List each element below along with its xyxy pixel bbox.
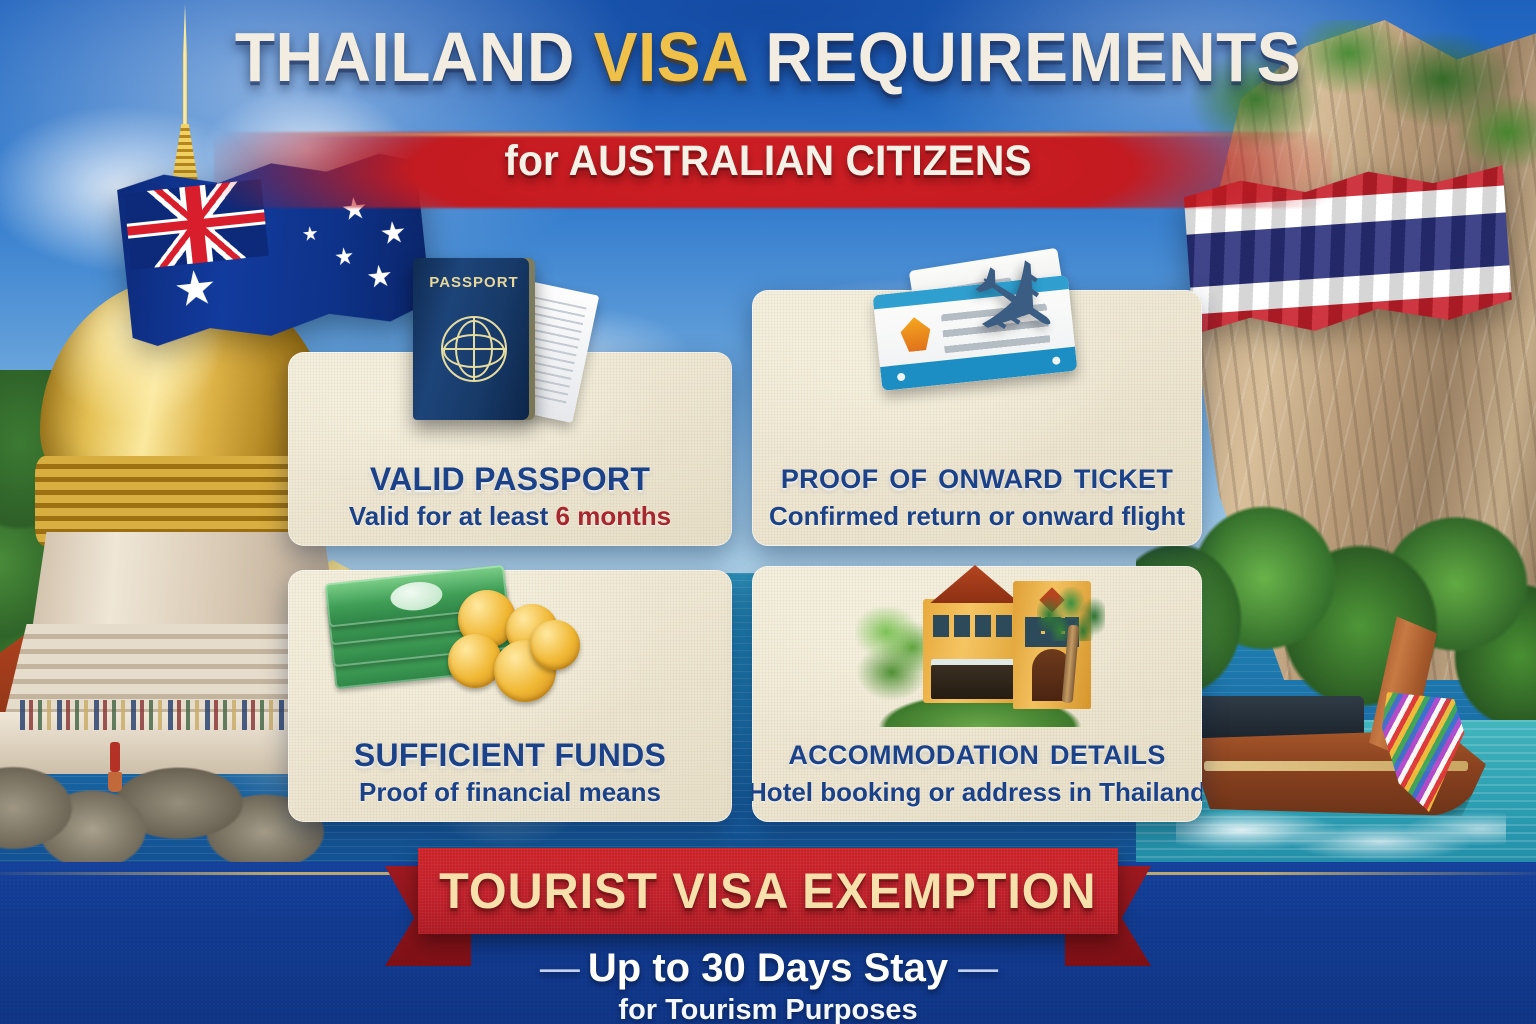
stay-duration-line: —Up to 30 Days Stay— xyxy=(0,946,1536,991)
stay-duration-text: Up to 30 Days Stay xyxy=(588,946,948,990)
title-part-1: THAILAND xyxy=(235,18,594,96)
card-title: Proof of Onward Ticket xyxy=(781,457,1173,497)
card-subtitle-highlight: 6 months xyxy=(556,501,672,531)
page-title: THAILAND VISA REQUIREMENTS xyxy=(46,22,1490,92)
card-subtitle: Confirmed return or onward flight xyxy=(769,501,1185,532)
card-title: VALID PASSPORT xyxy=(370,463,650,497)
card-accommodation-details[interactable]: Accommodation Details Hotel booking or a… xyxy=(752,566,1202,822)
card-title: SUFFICIENT FUNDS xyxy=(354,739,666,773)
card-subtitle-text: Valid for at least xyxy=(349,501,556,531)
purpose-text: for Tourism Purposes xyxy=(0,994,1536,1024)
card-valid-passport[interactable]: VALID PASSPORT Valid for at least 6 mont… xyxy=(288,352,732,546)
card-title: Accommodation Details xyxy=(788,733,1165,773)
subtitle-main: AUSTRALIAN CITIZENS xyxy=(569,137,1032,185)
card-subtitle: Proof of financial means xyxy=(359,777,661,808)
card-subtitle: Valid for at least 6 months xyxy=(349,501,671,532)
shrine-lamp xyxy=(108,742,122,794)
longtail-boat xyxy=(1176,600,1516,870)
exemption-banner: TOURIST VISA EXEMPTION —Up to 30 Days St… xyxy=(0,834,1536,1024)
ribbon-label: TOURIST VISA EXEMPTION xyxy=(439,862,1096,920)
requirements-card-grid: VALID PASSPORT Valid for at least 6 mont… xyxy=(288,352,1202,822)
dash-left: — xyxy=(530,946,588,990)
card-proof-of-onward-ticket[interactable]: Proof of Onward Ticket Confirmed return … xyxy=(752,290,1202,546)
card-sufficient-funds[interactable]: SUFFICIENT FUNDS Proof of financial mean… xyxy=(288,570,732,822)
page-subtitle: for AUSTRALIAN CITIZENS xyxy=(38,137,1497,186)
card-subtitle: Hotel booking or address in Thailand xyxy=(752,777,1202,808)
title-part-2: REQUIREMENTS xyxy=(747,18,1301,96)
dash-right: — xyxy=(948,946,1006,990)
infographic-poster: THAILAND VISA REQUIREMENTS for AUSTRALIA… xyxy=(0,0,1536,1024)
ribbon-band: TOURIST VISA EXEMPTION xyxy=(418,848,1118,934)
title-highlight-visa: VISA xyxy=(594,18,747,96)
subtitle-prefix: for xyxy=(504,137,568,185)
